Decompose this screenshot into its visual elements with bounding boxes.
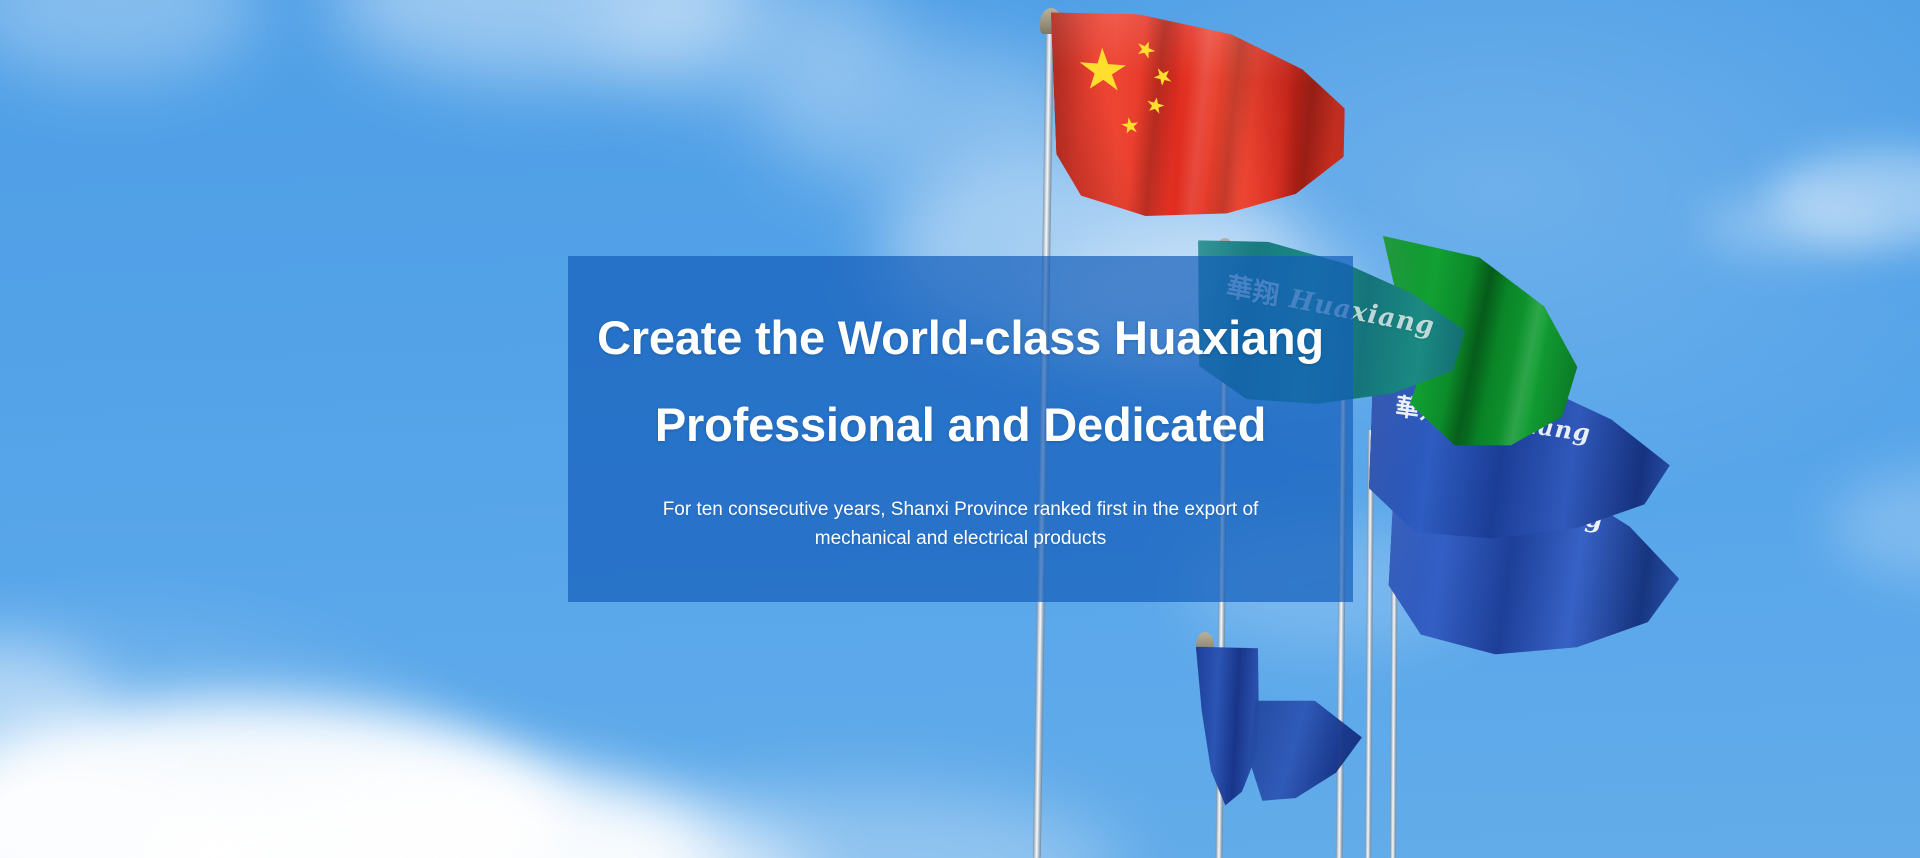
- hero-headline: Create the World-class Huaxiang Professi…: [597, 304, 1324, 458]
- hero-overlay-panel: Create the World-class Huaxiang Professi…: [568, 256, 1353, 602]
- hero-subtitle: For ten consecutive years, Shanxi Provin…: [663, 495, 1259, 554]
- cloud-top-right-2: [1700, 195, 1890, 257]
- hero-subtitle-line-2: mechanical and electrical products: [663, 524, 1259, 553]
- hero-headline-line-1: Create the World-class Huaxiang: [597, 304, 1324, 372]
- hero-subtitle-line-1: For ten consecutive years, Shanxi Provin…: [663, 495, 1259, 524]
- hero-banner: 華翔Huaxiang 華翔Huaxiang 華翔Huaxiang 華翔Huaxi…: [0, 0, 1920, 858]
- hero-headline-line-2: Professional and Dedicated: [597, 391, 1324, 459]
